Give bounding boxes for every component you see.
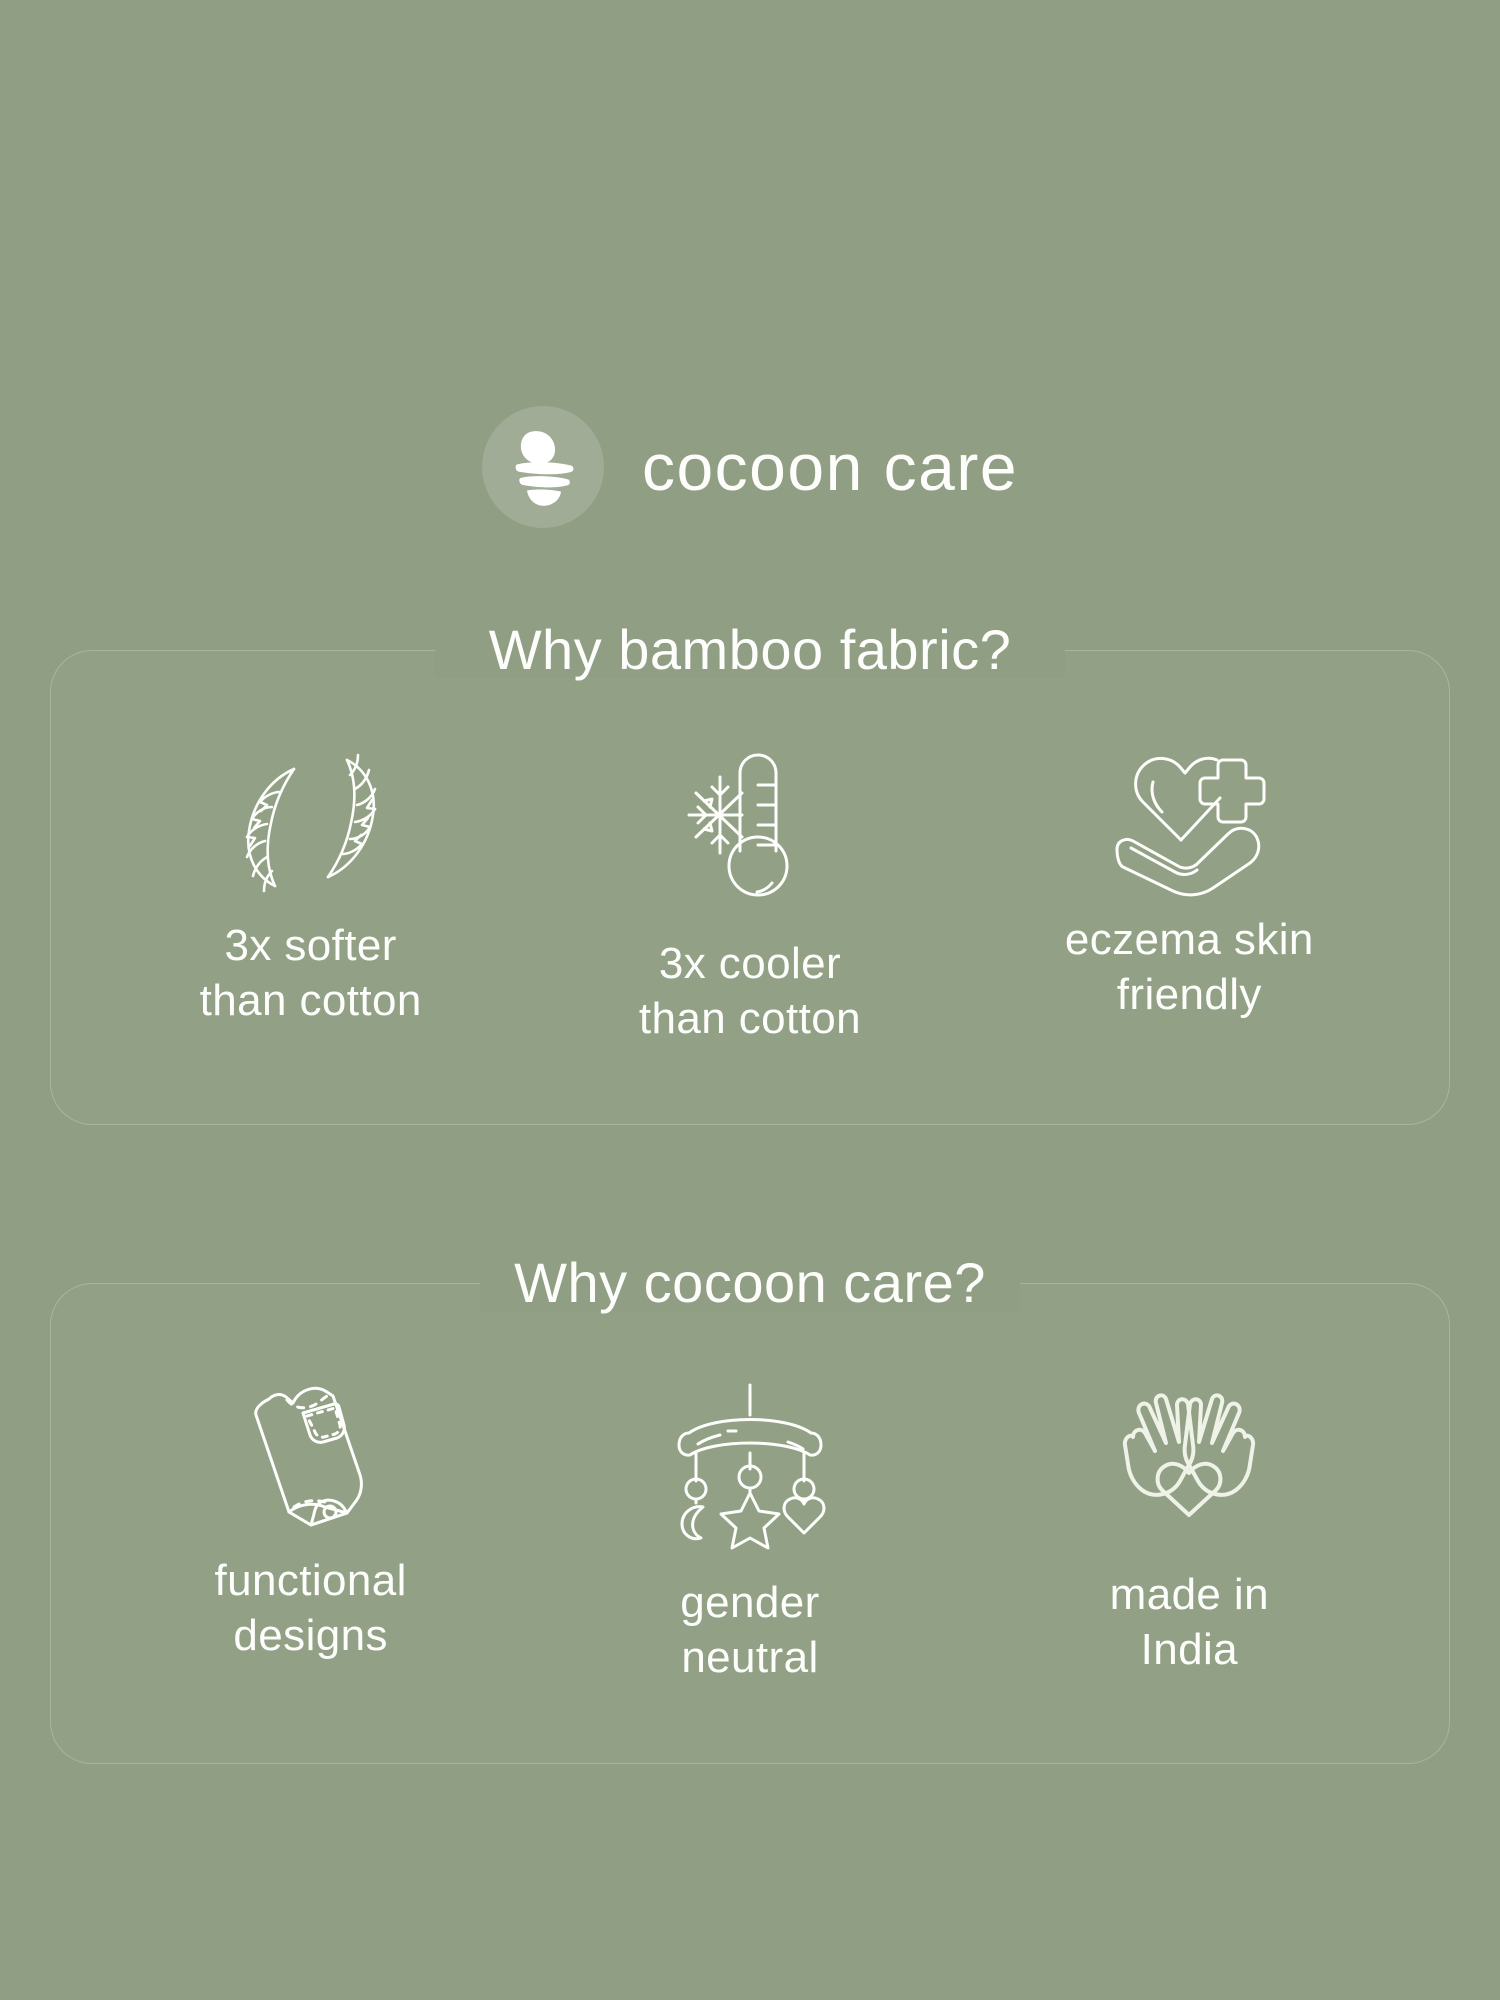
feature-label: made in India [1110, 1568, 1269, 1677]
crib-mobile-icon [670, 1376, 830, 1536]
feature-label: 3x cooler than cotton [639, 937, 861, 1046]
feature-label: 3x softer than cotton [200, 919, 422, 1028]
feature-label: gender neutral [680, 1576, 819, 1685]
hand-heart-medical-icon [1109, 743, 1269, 903]
feature-label: functional designs [214, 1554, 406, 1663]
section-title-bamboo: Why bamboo fabric? [50, 622, 1450, 678]
feature-gender-neutral: gender neutral [530, 1376, 969, 1685]
section-title-cocoon: Why cocoon care? [50, 1255, 1450, 1311]
cocoon-logo-icon [482, 406, 604, 528]
feature-3x-cooler: 3x cooler than cotton [530, 743, 969, 1046]
feature-3x-softer: 3x softer than cotton [91, 743, 530, 1028]
feature-functional-designs: functional designs [91, 1376, 530, 1663]
feature-eczema-friendly: eczema skin friendly [970, 743, 1409, 1022]
thermometer-snowflake-icon [680, 743, 820, 903]
feature-card-bamboo: 3x softer than cotton [50, 650, 1450, 1125]
feature-card-cocoon: functional designs [50, 1283, 1450, 1764]
hands-heart-icon [1114, 1376, 1264, 1536]
section-why-bamboo-fabric: Why bamboo fabric? [50, 622, 1450, 1125]
section-why-cocoon-care: Why cocoon care? [50, 1255, 1450, 1764]
feature-made-in-india: made in India [970, 1376, 1409, 1677]
poster-canvas: cocoon care Why bamboo fabric? [0, 0, 1500, 2000]
baby-onesie-icon [241, 1376, 381, 1536]
feathers-icon [231, 743, 391, 903]
brand-lockup: cocoon care [482, 392, 1018, 542]
feature-label: eczema skin friendly [1065, 913, 1314, 1022]
brand-name: cocoon care [642, 434, 1018, 500]
